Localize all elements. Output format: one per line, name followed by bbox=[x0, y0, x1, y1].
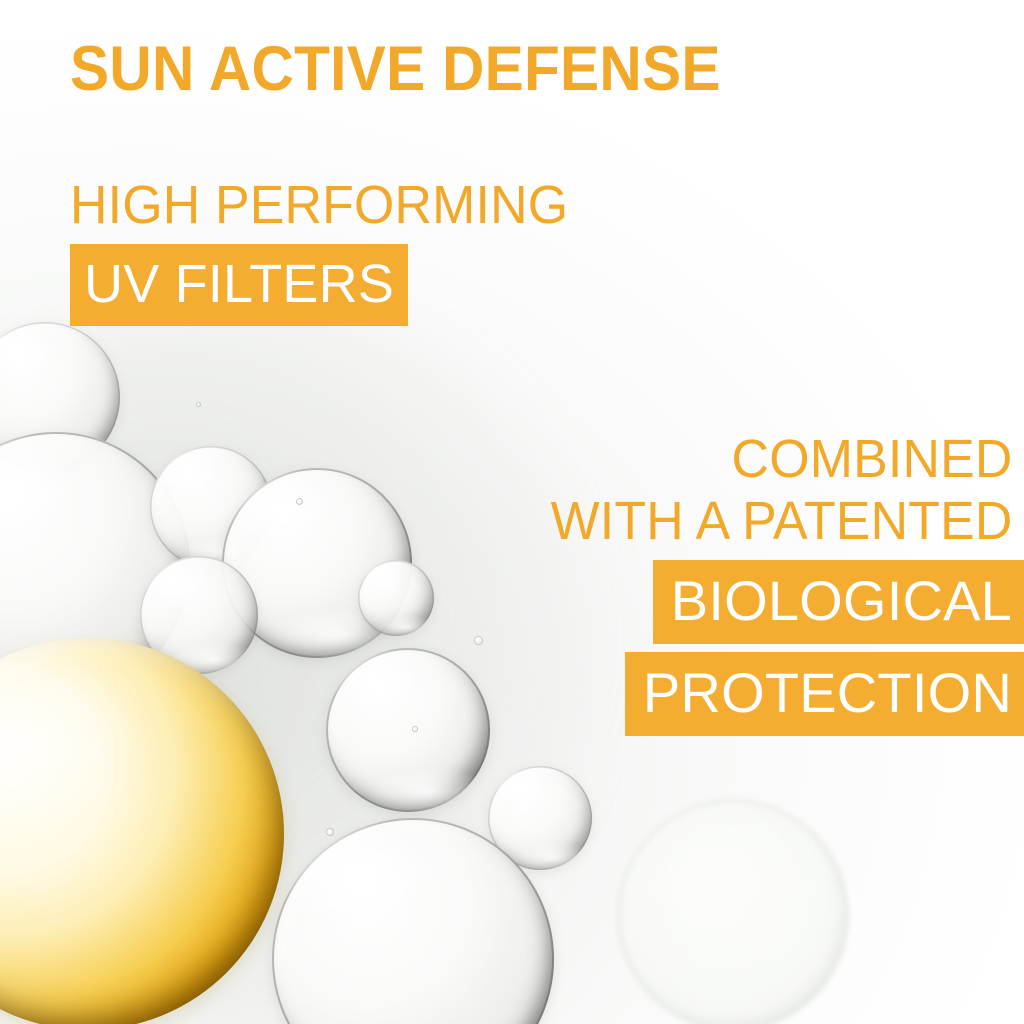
page-title: SUN ACTIVE DEFENSE bbox=[70, 38, 721, 101]
right-claim-line-1: COMBINED bbox=[486, 432, 1024, 486]
sun-active-defense-poster: SUN ACTIVE DEFENSE HIGH PERFORMING UV FI… bbox=[0, 0, 1024, 1024]
biological-highlight: BIOLOGICAL bbox=[653, 560, 1024, 644]
left-highlight-row: UV FILTERS bbox=[70, 244, 630, 326]
left-claim-block: HIGH PERFORMING UV FILTERS bbox=[70, 178, 630, 326]
right-claim-line-2: WITH A PATENTED bbox=[486, 494, 1024, 548]
protection-highlight-row: PROTECTION bbox=[464, 652, 1024, 736]
protection-highlight: PROTECTION bbox=[625, 652, 1024, 736]
right-claim-block: COMBINED WITH A PATENTED BIOLOGICAL PROT… bbox=[464, 432, 1024, 736]
left-claim-line-1: HIGH PERFORMING bbox=[70, 178, 608, 232]
biological-highlight-row: BIOLOGICAL bbox=[464, 560, 1024, 644]
uv-filters-highlight: UV FILTERS bbox=[70, 244, 408, 326]
